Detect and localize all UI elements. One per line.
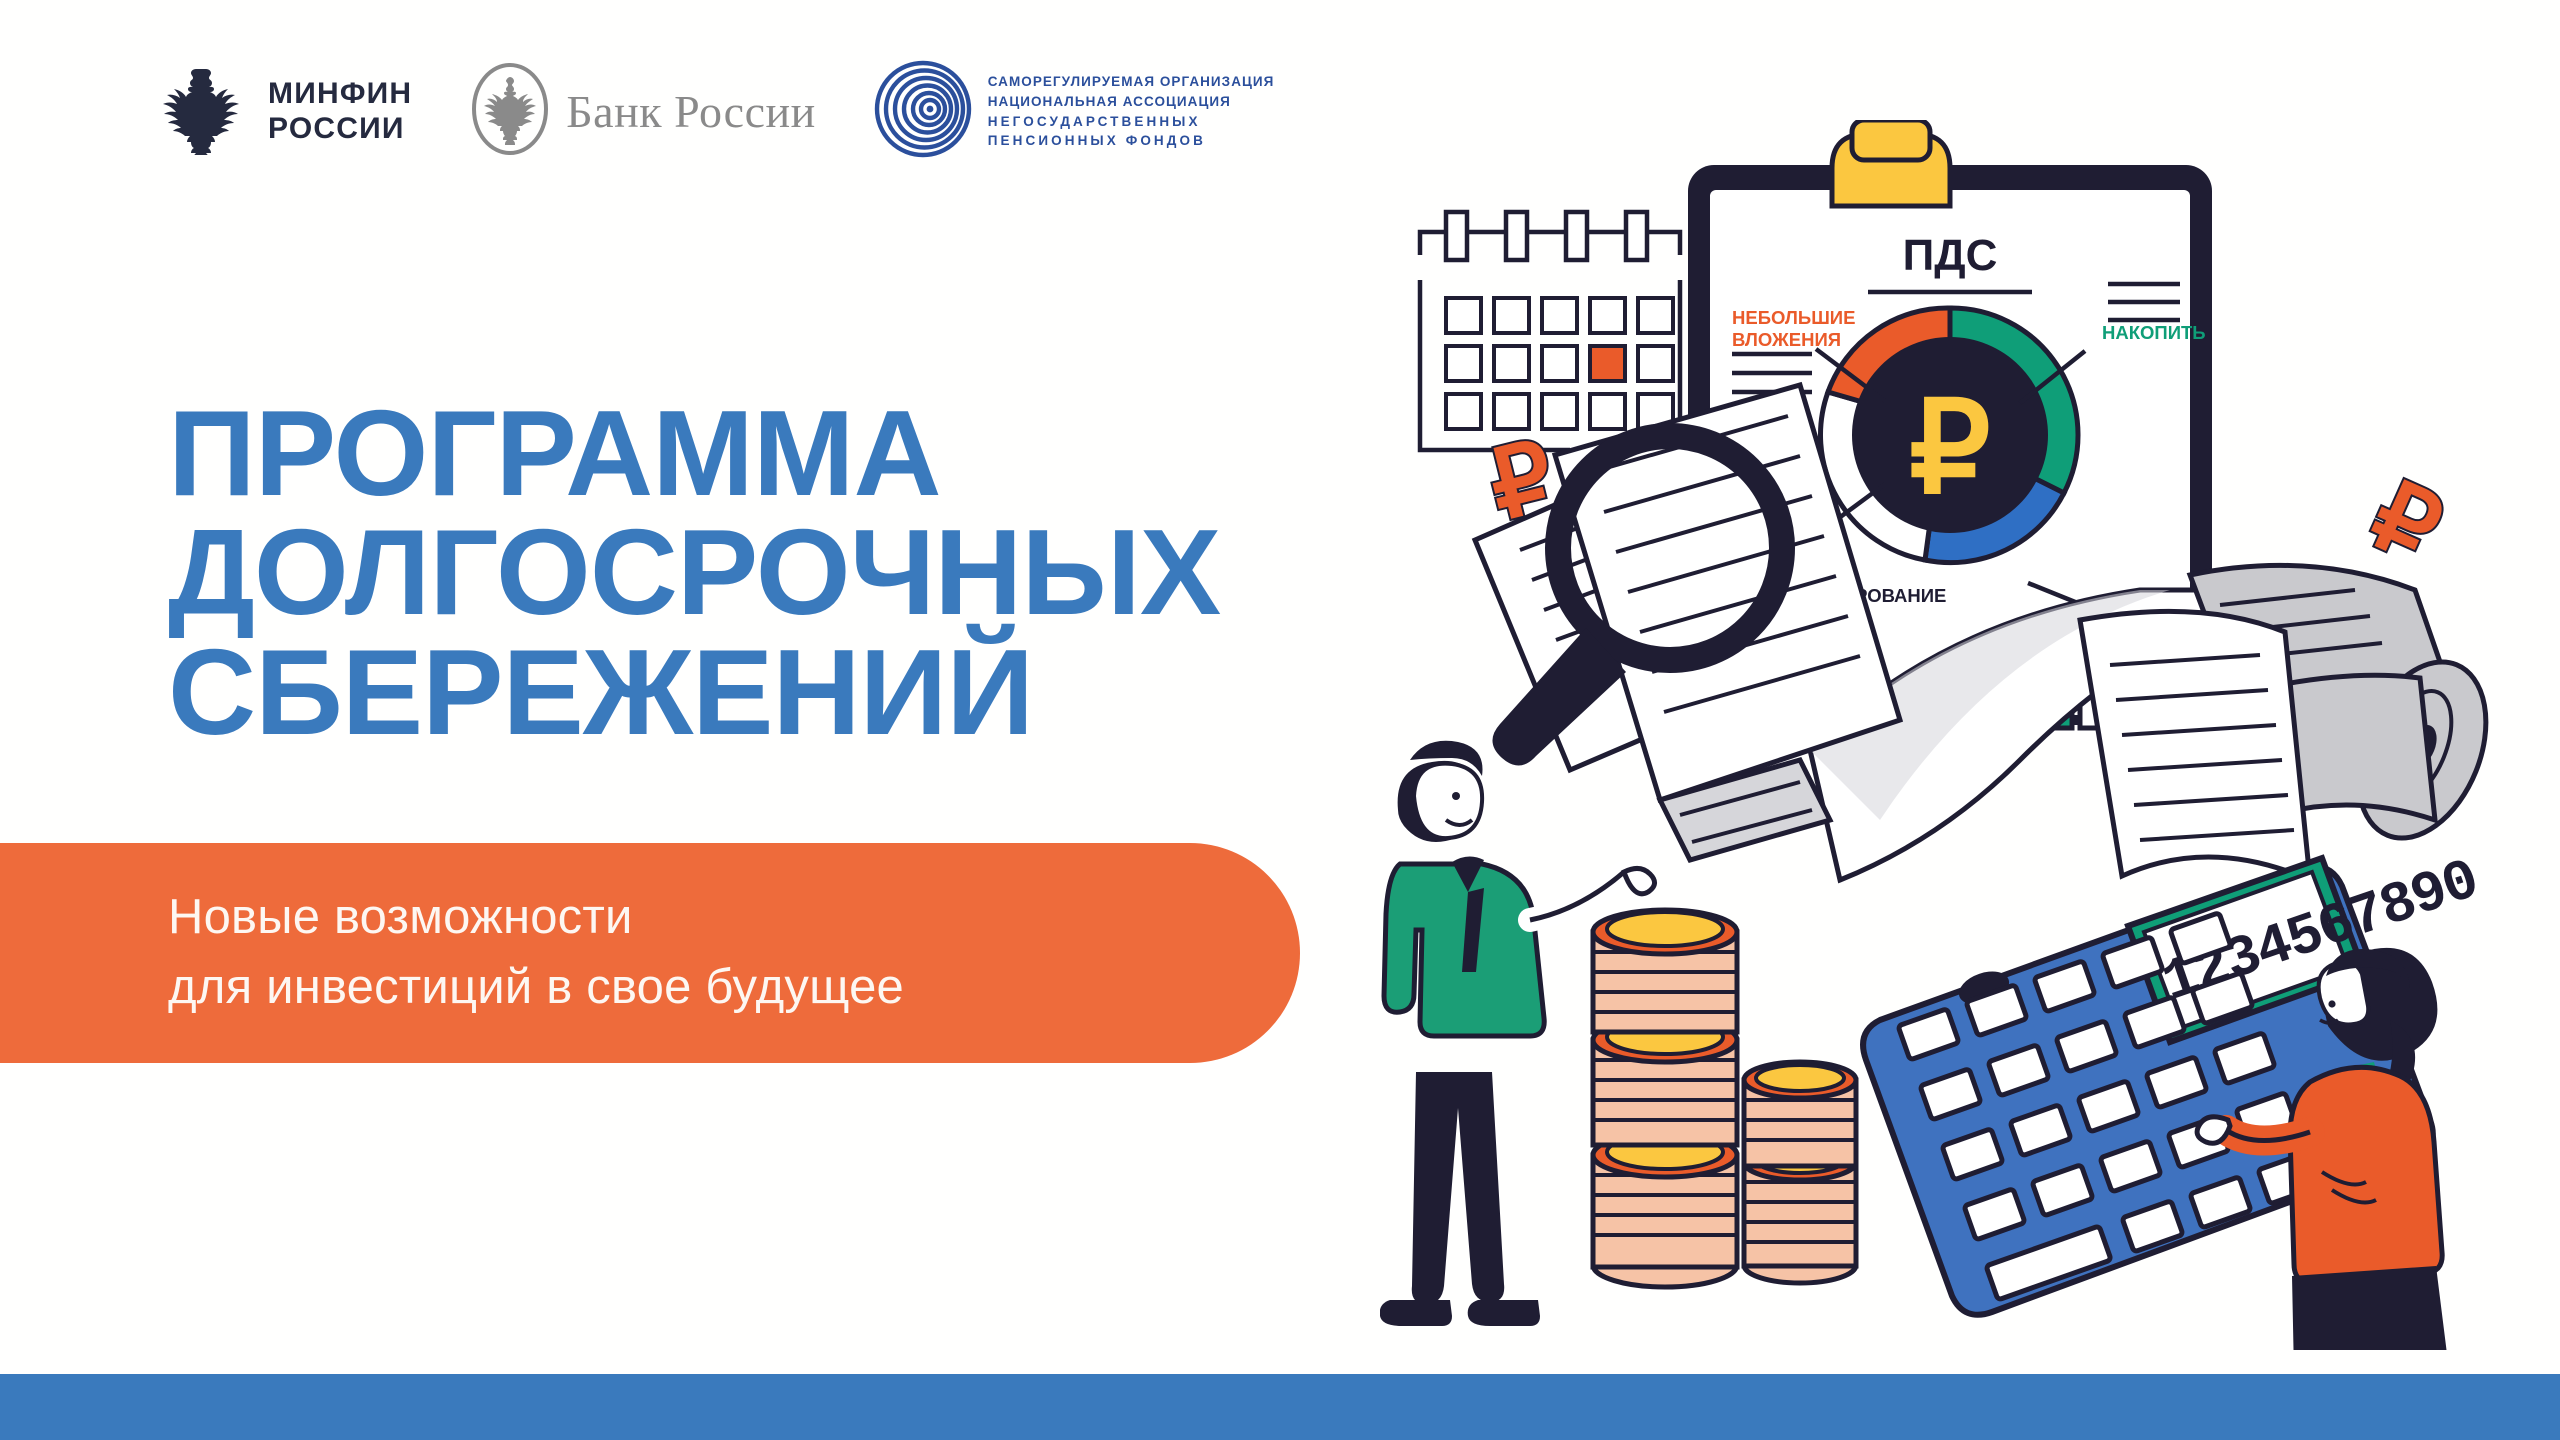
eagle-oval-icon — [470, 61, 550, 162]
clipboard-title: ПДС — [1903, 231, 1998, 280]
napf-line-4: ПЕНСИОННЫХ ФОНДОВ — [988, 131, 1275, 151]
illustration: ПДС — [1380, 120, 2560, 1350]
donut-label-nebolshie-line2: ВЛОЖЕНИЯ — [1732, 329, 1841, 350]
logo-bank-rossii: Банк России — [470, 61, 815, 162]
page-title: ПРОГРАММА ДОЛГОСРОЧНЫХ СБЕРЕЖЕНИЙ — [168, 394, 1220, 753]
napf-line-3: НЕГОСУДАРСТВЕННЫХ — [988, 112, 1275, 132]
logo-napf: САМОРЕГУЛИРУЕМАЯ ОРГАНИЗАЦИЯ НАЦИОНАЛЬНА… — [874, 60, 1275, 163]
ruble-symbol-center: ₽ — [1909, 377, 1990, 520]
poster-root: МИНФИН РОССИИ Банк России — [0, 0, 2560, 1440]
subtitle-text: Новые возможности для инвестиций в свое … — [168, 883, 904, 1022]
subtitle-banner: Новые возможности для инвестиций в свое … — [0, 843, 1300, 1063]
coin-stack-short — [1744, 1062, 1856, 1283]
napf-line-2: НАЦИОНАЛЬНАЯ АССОЦИАЦИЯ — [988, 92, 1275, 112]
ruble-symbol-right: ₽ — [2356, 461, 2455, 584]
svg-text:₽: ₽ — [2356, 461, 2455, 584]
spiral-icon — [874, 60, 972, 163]
logo-bank-rossii-label: Банк России — [566, 89, 815, 135]
coin-stack-tall — [1593, 910, 1737, 1287]
calendar-icon — [1420, 212, 1680, 450]
donut-chart: ₽ — [1820, 308, 2078, 563]
napf-line-1: САМОРЕГУЛИРУЕМАЯ ОРГАНИЗАЦИЯ — [988, 72, 1275, 92]
logo-minfin-rossii: МИНФИН РОССИИ — [160, 63, 412, 160]
footer-bar — [0, 1374, 2560, 1440]
logo-napf-label: САМОРЕГУЛИРУЕМАЯ ОРГАНИЗАЦИЯ НАЦИОНАЛЬНА… — [988, 72, 1275, 152]
receipt-strip — [2080, 611, 2310, 880]
logo-row: МИНФИН РОССИИ Банк России — [160, 60, 1274, 163]
double-headed-eagle-icon — [160, 63, 252, 160]
donut-label-nebolshie-line1: НЕБОЛЬШИЕ — [1732, 307, 1855, 328]
donut-label-nakopit: НАКОПИТЬ — [2102, 322, 2206, 343]
logo-minfin-label: МИНФИН РОССИИ — [268, 77, 412, 147]
